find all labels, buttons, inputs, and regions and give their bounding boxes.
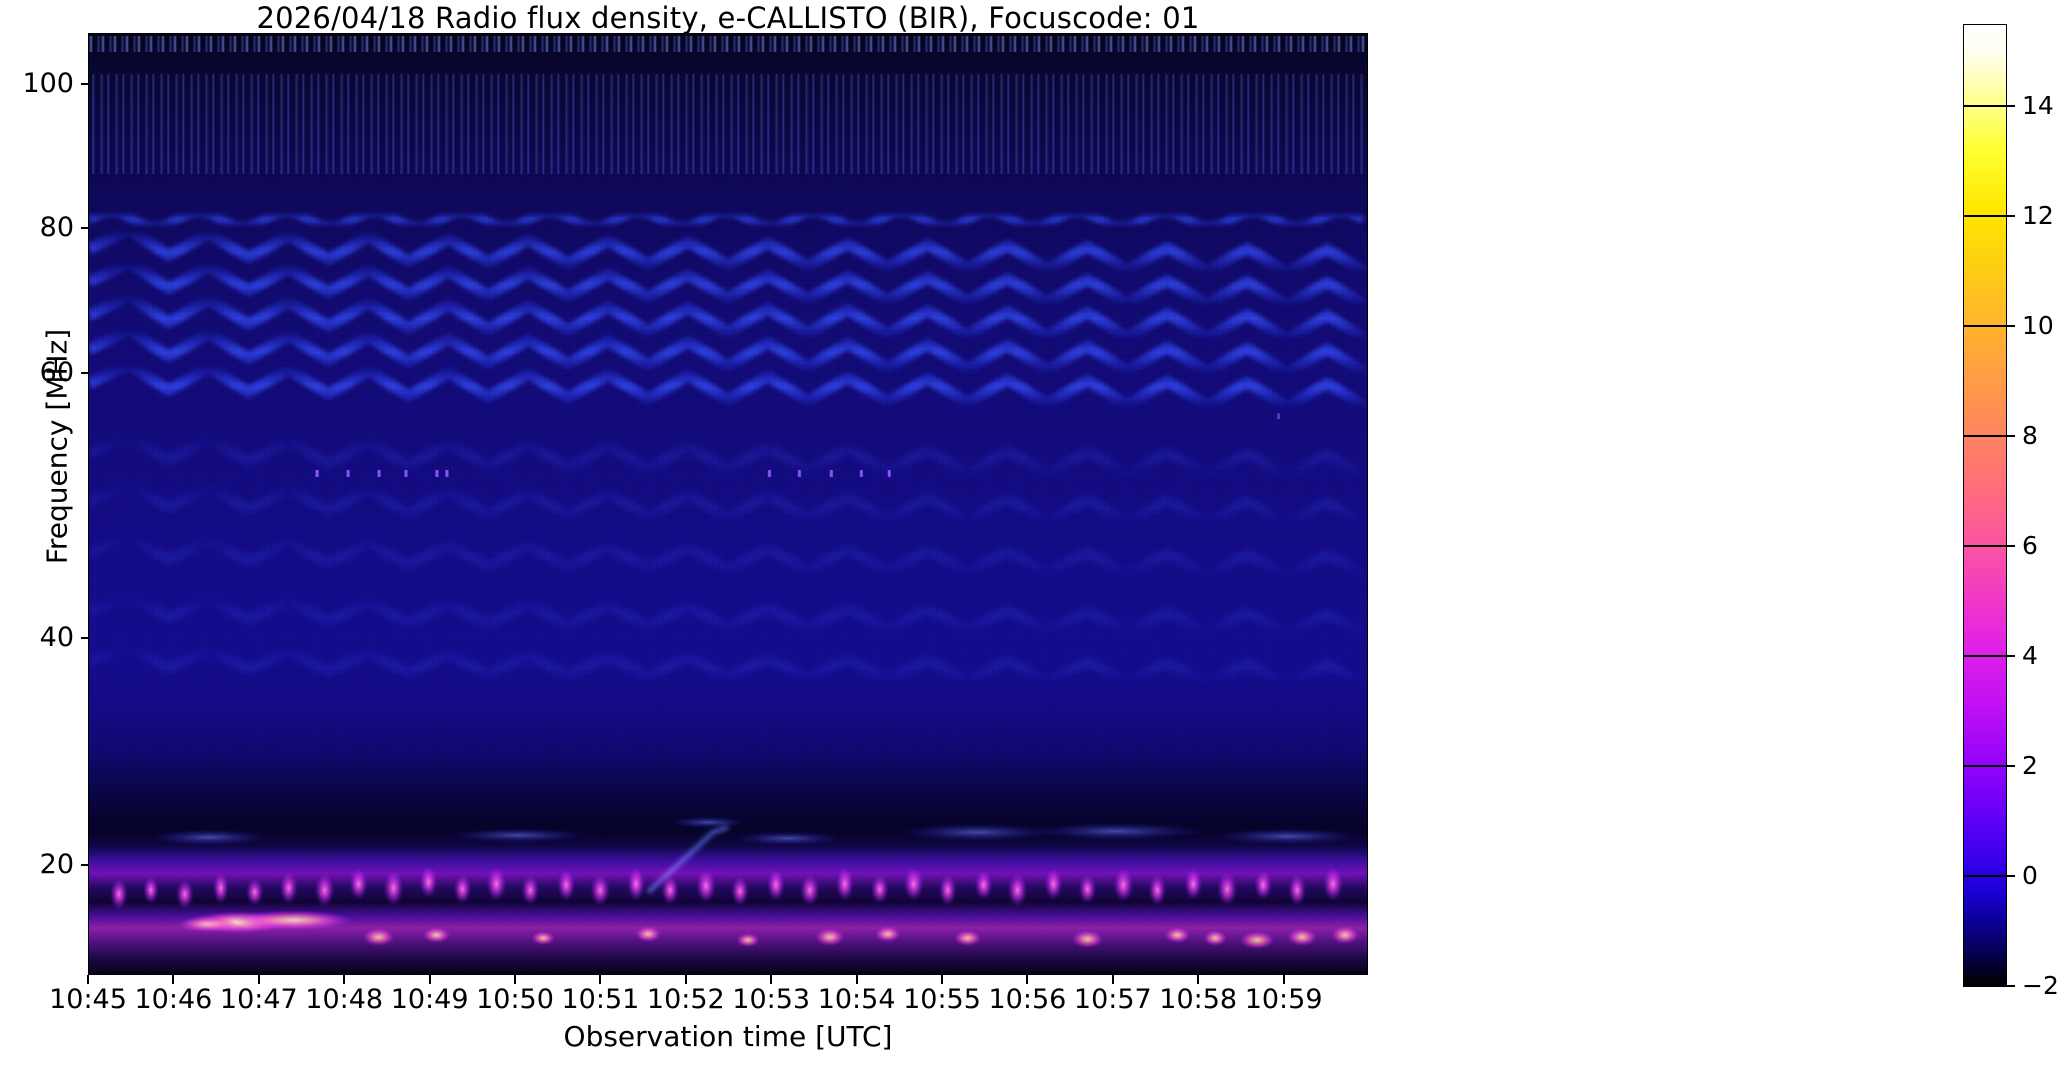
colorbar-tick-label: 0 <box>2022 863 2038 888</box>
y-tick-mark <box>81 637 89 639</box>
colorbar-tick-mark <box>1963 105 2015 107</box>
x-tick-mark <box>1112 975 1114 984</box>
x-tick-mark <box>770 975 772 984</box>
y-tick-label: 40 <box>0 624 74 651</box>
colorbar-tick-label: 10 <box>2022 313 2054 338</box>
y-tick-label: 100 <box>0 70 74 97</box>
channel-noise <box>89 34 1367 974</box>
top-band-carrier-noise <box>89 74 1367 174</box>
x-tick-mark <box>343 975 345 984</box>
x-tick-mark <box>1197 975 1199 984</box>
x-tick-mark <box>941 975 943 984</box>
y-tick-mark <box>81 372 89 374</box>
page-title: 2026/04/18 Radio flux density, e-CALLIST… <box>88 2 1368 34</box>
y-tick-label: 20 <box>0 851 74 878</box>
x-tick-mark <box>172 975 174 984</box>
colorbar-tick-label: 4 <box>2022 643 2038 668</box>
top-edge-carrier-noise <box>89 36 1367 52</box>
interference-band-overlay <box>89 34 1367 974</box>
y-tick-mark <box>81 227 89 229</box>
x-tick-mark <box>1026 975 1028 984</box>
spectrogram-plot <box>88 33 1368 975</box>
colorbar-tick-label: 6 <box>2022 533 2038 558</box>
emission-hotspots <box>89 34 1367 974</box>
low-frequency-emission-band <box>89 834 1367 975</box>
drift-feature <box>89 34 1367 974</box>
colorbar-tick-label: 2 <box>2022 753 2038 778</box>
x-tick-mark <box>429 975 431 984</box>
x-tick-mark <box>87 975 89 984</box>
x-tick-mark <box>514 975 516 984</box>
colorbar-tick-mark <box>1963 985 2015 987</box>
colorbar-tick-mark <box>1963 545 2015 547</box>
colorbar-tick-mark <box>1963 325 2015 327</box>
x-tick-mark <box>258 975 260 984</box>
x-tick-label: 10:59 <box>1224 985 1344 1015</box>
y-tick-label: 80 <box>0 214 74 241</box>
y-tick-label: 60 <box>0 359 74 386</box>
time-sample-noise <box>89 34 1367 974</box>
colorbar-gradient <box>1964 25 2006 985</box>
x-tick-mark <box>1283 975 1285 984</box>
colorbar-tick-mark <box>1963 435 2015 437</box>
colorbar-tick-label: −2 <box>2022 973 2059 998</box>
colorbar <box>1963 24 2007 986</box>
colorbar-tick-mark <box>1963 655 2015 657</box>
colorbar-tick-mark <box>1963 215 2015 217</box>
x-tick-mark <box>685 975 687 984</box>
colorbar-tick-label: 12 <box>2022 203 2054 228</box>
colorbar-tick-mark <box>1963 875 2015 877</box>
spectrogram-grain <box>89 34 1367 974</box>
colorbar-tick-label: 8 <box>2022 423 2038 448</box>
x-tick-mark <box>856 975 858 984</box>
x-tick-mark <box>599 975 601 984</box>
spectrogram-base-gradient <box>89 34 1367 974</box>
colorbar-tick-label: 14 <box>2022 93 2054 118</box>
colorbar-tick-mark <box>1963 765 2015 767</box>
y-tick-mark <box>81 864 89 866</box>
x-axis-label: Observation time [UTC] <box>88 1020 1368 1053</box>
y-tick-mark <box>81 83 89 85</box>
narrowband-rfi-dots <box>89 34 1367 974</box>
